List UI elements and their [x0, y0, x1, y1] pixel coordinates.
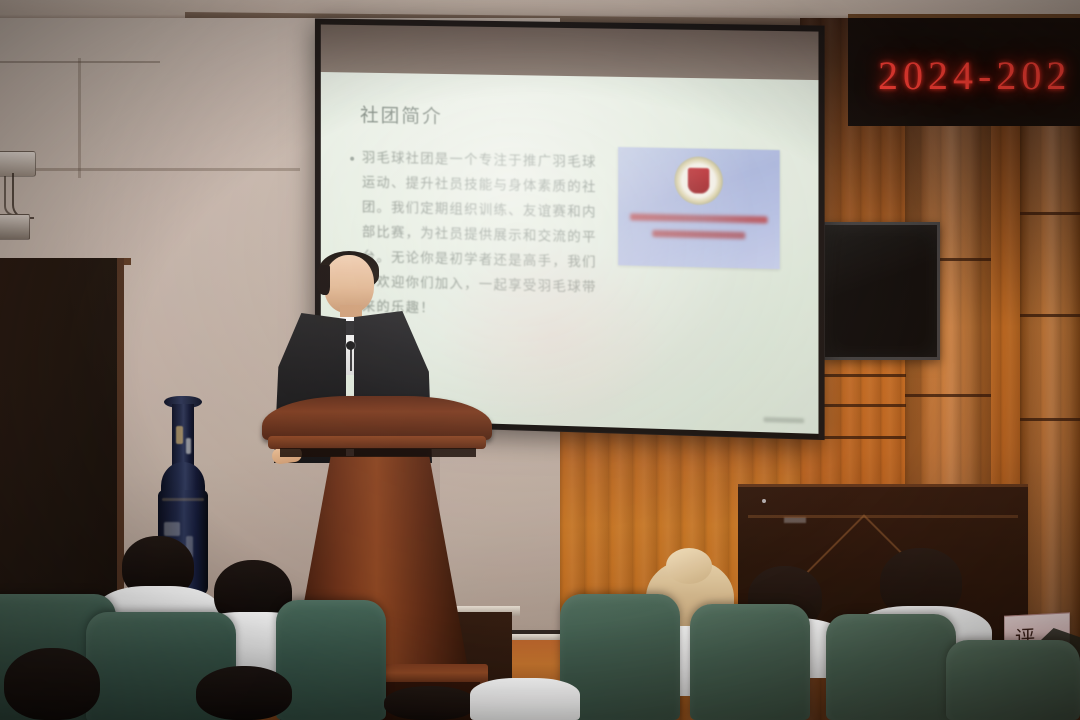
led-banner-text: 2024-202 [878, 52, 1071, 99]
cabinet-rail [748, 515, 1018, 518]
podium-top [262, 396, 492, 440]
wood-seam-f [812, 374, 906, 377]
wood-seam-d [1020, 314, 1080, 317]
shield-shape [688, 167, 710, 194]
vase-neck [172, 404, 194, 468]
audience-head [384, 686, 476, 720]
slide-image [618, 147, 780, 269]
auditorium-seat [276, 600, 386, 720]
vase-body-motif-a [164, 522, 180, 536]
wall-mounted-display[interactable] [822, 222, 940, 360]
podium-underside-shadow [280, 448, 476, 457]
wood-seam-h [812, 436, 906, 439]
vase-white-motif [186, 438, 191, 454]
shield-emblem-icon [674, 156, 723, 205]
audience-shoulders [470, 678, 580, 720]
slide-title: 社团简介 [360, 100, 443, 128]
microphone-wire [350, 349, 352, 371]
wood-seam-b [905, 394, 991, 397]
slide-image-caption-line1 [630, 213, 767, 223]
wall-seam-horizontal [0, 168, 300, 171]
audience-head [4, 648, 100, 720]
auditorium-seat [946, 640, 1080, 720]
audience-hair-bun [666, 548, 712, 584]
wood-seam-g [812, 404, 906, 407]
wood-seam-c [1020, 212, 1080, 215]
wood-seam-e [1020, 418, 1080, 421]
auditorium-scene: 2024-202 社团简介 羽毛球社团是一个专注于推广羽毛球运动、提升社员技能与… [0, 0, 1080, 720]
auditorium-seat [826, 614, 956, 720]
led-banner: 2024-202 [848, 14, 1080, 126]
wall-cable-secondary [4, 176, 18, 216]
slide-image-caption-line2 [652, 230, 745, 239]
vase-ring [162, 498, 204, 501]
slide-page-number [763, 417, 804, 423]
vase-gold-motif [176, 426, 183, 444]
bullet-dot-icon [350, 157, 354, 161]
presenter-hair-side [316, 265, 330, 295]
status-led-icon [762, 499, 766, 503]
wall-outlet-box [0, 214, 30, 240]
wall-seam-vertical [78, 58, 81, 178]
display-glare [825, 225, 937, 357]
audience-head [196, 666, 292, 720]
auditorium-seat [690, 604, 810, 720]
